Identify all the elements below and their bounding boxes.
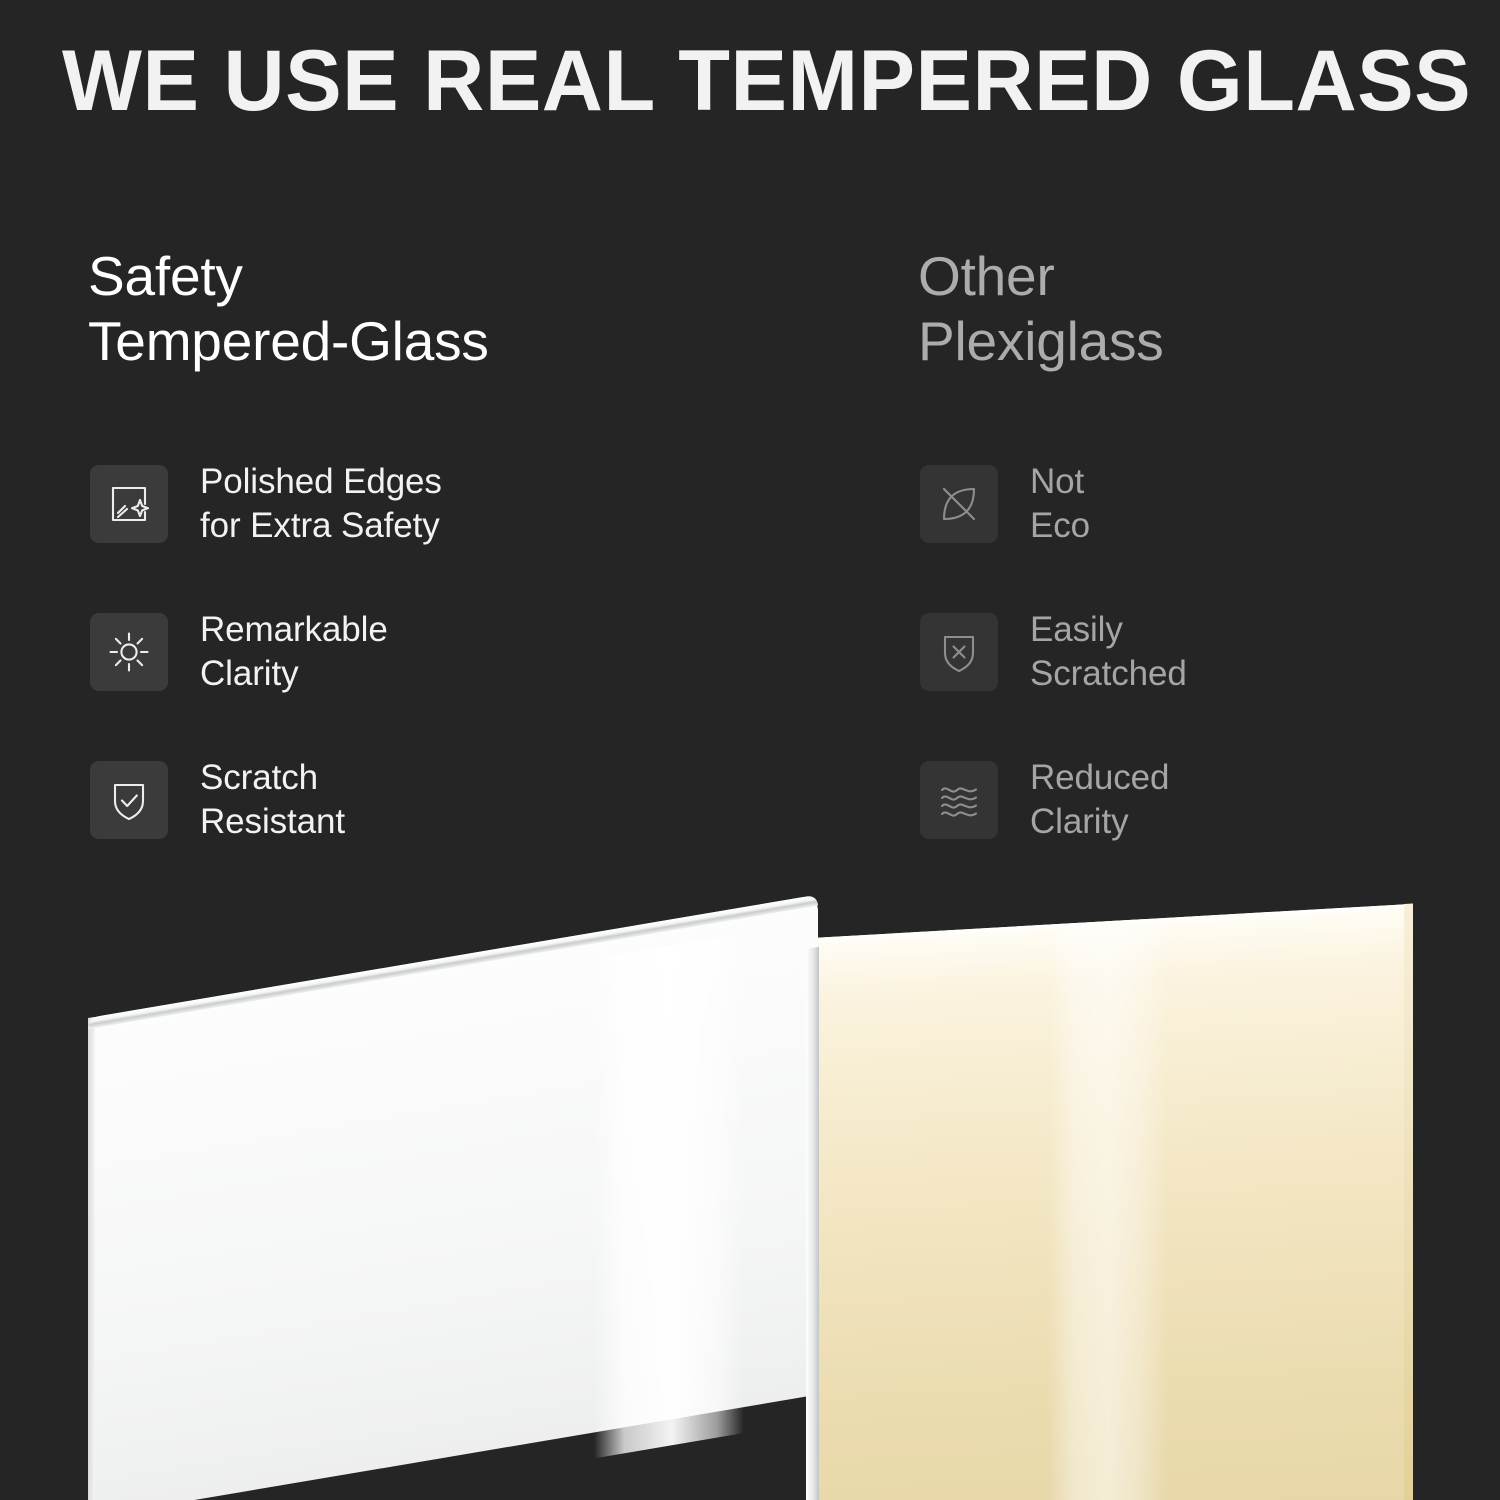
feature-label-scratch-resistant: Scratch Resistant bbox=[200, 756, 345, 844]
plexiglass-panel bbox=[812, 904, 1412, 1500]
feature-label-reduced-clarity: Reduced Clarity bbox=[1030, 756, 1169, 844]
column-other-plexiglass: Other Plexiglass Not Eco bbox=[918, 244, 1478, 375]
tempered-glass-panel bbox=[88, 895, 818, 1500]
wavy-lines-icon bbox=[920, 761, 998, 839]
column-safety-tempered-glass: Safety Tempered-Glass Polished Edges for… bbox=[88, 244, 848, 375]
feature-list-good: Polished Edges for Extra Safety Remarkab… bbox=[90, 465, 442, 839]
product-comparison-photo bbox=[0, 860, 1500, 1500]
feature-label-not-eco: Not Eco bbox=[1030, 460, 1090, 548]
leaf-slashed-icon bbox=[920, 465, 998, 543]
column-title-bad: Other Plexiglass bbox=[918, 244, 1478, 375]
feature-row-remarkable-clarity: Remarkable Clarity bbox=[90, 613, 442, 691]
shield-x-icon bbox=[920, 613, 998, 691]
feature-row-not-eco: Not Eco bbox=[920, 465, 1187, 543]
infographic-canvas: WE USE REAL TEMPERED GLASS Safety Temper… bbox=[0, 0, 1500, 1500]
sun-brightness-icon bbox=[90, 613, 168, 691]
feature-row-easily-scratched: Easily Scratched bbox=[920, 613, 1187, 691]
feature-list-bad: Not Eco Easily Scratched bbox=[920, 465, 1187, 839]
feature-label-easily-scratched: Easily Scratched bbox=[1030, 608, 1187, 696]
feature-label-polished-edges: Polished Edges for Extra Safety bbox=[200, 460, 442, 548]
tempered-glass-panel-right-edge bbox=[806, 947, 819, 1500]
feature-row-reduced-clarity: Reduced Clarity bbox=[920, 761, 1187, 839]
tempered-glass-panel-left-edge bbox=[88, 1017, 95, 1500]
column-title-good: Safety Tempered-Glass bbox=[88, 244, 848, 375]
feature-row-scratch-resistant: Scratch Resistant bbox=[90, 761, 442, 839]
feature-row-polished-edges: Polished Edges for Extra Safety bbox=[90, 465, 442, 543]
plexiglass-panel-right-edge bbox=[1404, 903, 1413, 1500]
page-title: WE USE REAL TEMPERED GLASS bbox=[62, 38, 1441, 126]
shield-check-icon bbox=[90, 761, 168, 839]
feature-label-remarkable-clarity: Remarkable Clarity bbox=[200, 608, 388, 696]
polished-glass-sparkle-icon bbox=[90, 465, 168, 543]
